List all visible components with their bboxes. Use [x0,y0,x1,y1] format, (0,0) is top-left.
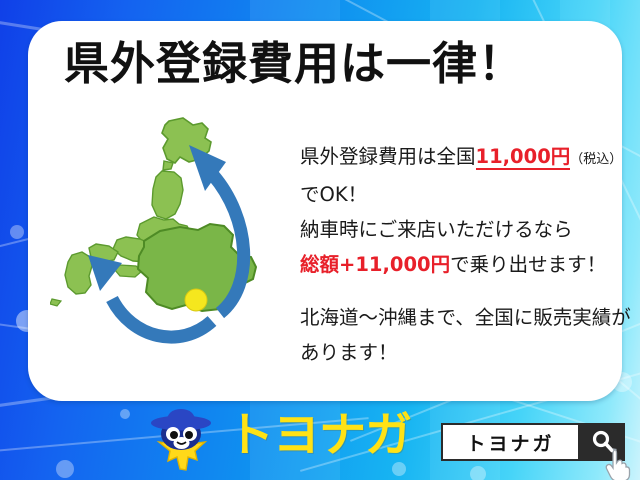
promo-card: 県外登録費用は一律！ [28,21,622,401]
copy-line-6: あります！ [300,335,630,370]
promo-body-text: 県外登録費用は全国11,000円（税込） でOK！ 納車時にご来店いただけるなら… [300,139,630,370]
search-input[interactable]: トヨナガ [441,423,580,461]
promo-banner: 県外登録費用は一律！ [0,0,640,480]
price-11000-tax-incl: 11,000円 [476,145,571,170]
copy-line-4: 総額+11,000円で乗り出せます！ [300,247,630,282]
brand-lockup: トヨナガ [145,404,425,478]
copy-line-2: でOK！ [300,177,630,212]
japan-map-illustration [50,113,280,393]
dealer-location-dot [185,289,207,311]
hand-pointer-icon [604,447,634,480]
brand-name: トヨナガ [227,408,411,464]
search-input-value: トヨナガ [466,429,554,456]
copy-line-3: 納車時にご来店いただけるなら [300,212,630,247]
page-title: 県外登録費用は一律！ [64,35,604,93]
copy-line4-post: で乗り出せます！ [450,253,606,276]
copy-spacer [300,282,630,300]
copy-line-5: 北海道～沖縄まで、全国に販売実績が [300,300,630,335]
tax-note: （税込） [570,152,622,167]
search-widget[interactable]: トヨナガ [441,423,625,461]
total-plus-11000: 総額+11,000円 [300,253,450,276]
copy-line-1: 県外登録費用は全国11,000円（税込） [300,139,630,177]
copy-line1-pre: 県外登録費用は全国 [300,145,476,168]
toyonaga-mascot [145,408,217,476]
